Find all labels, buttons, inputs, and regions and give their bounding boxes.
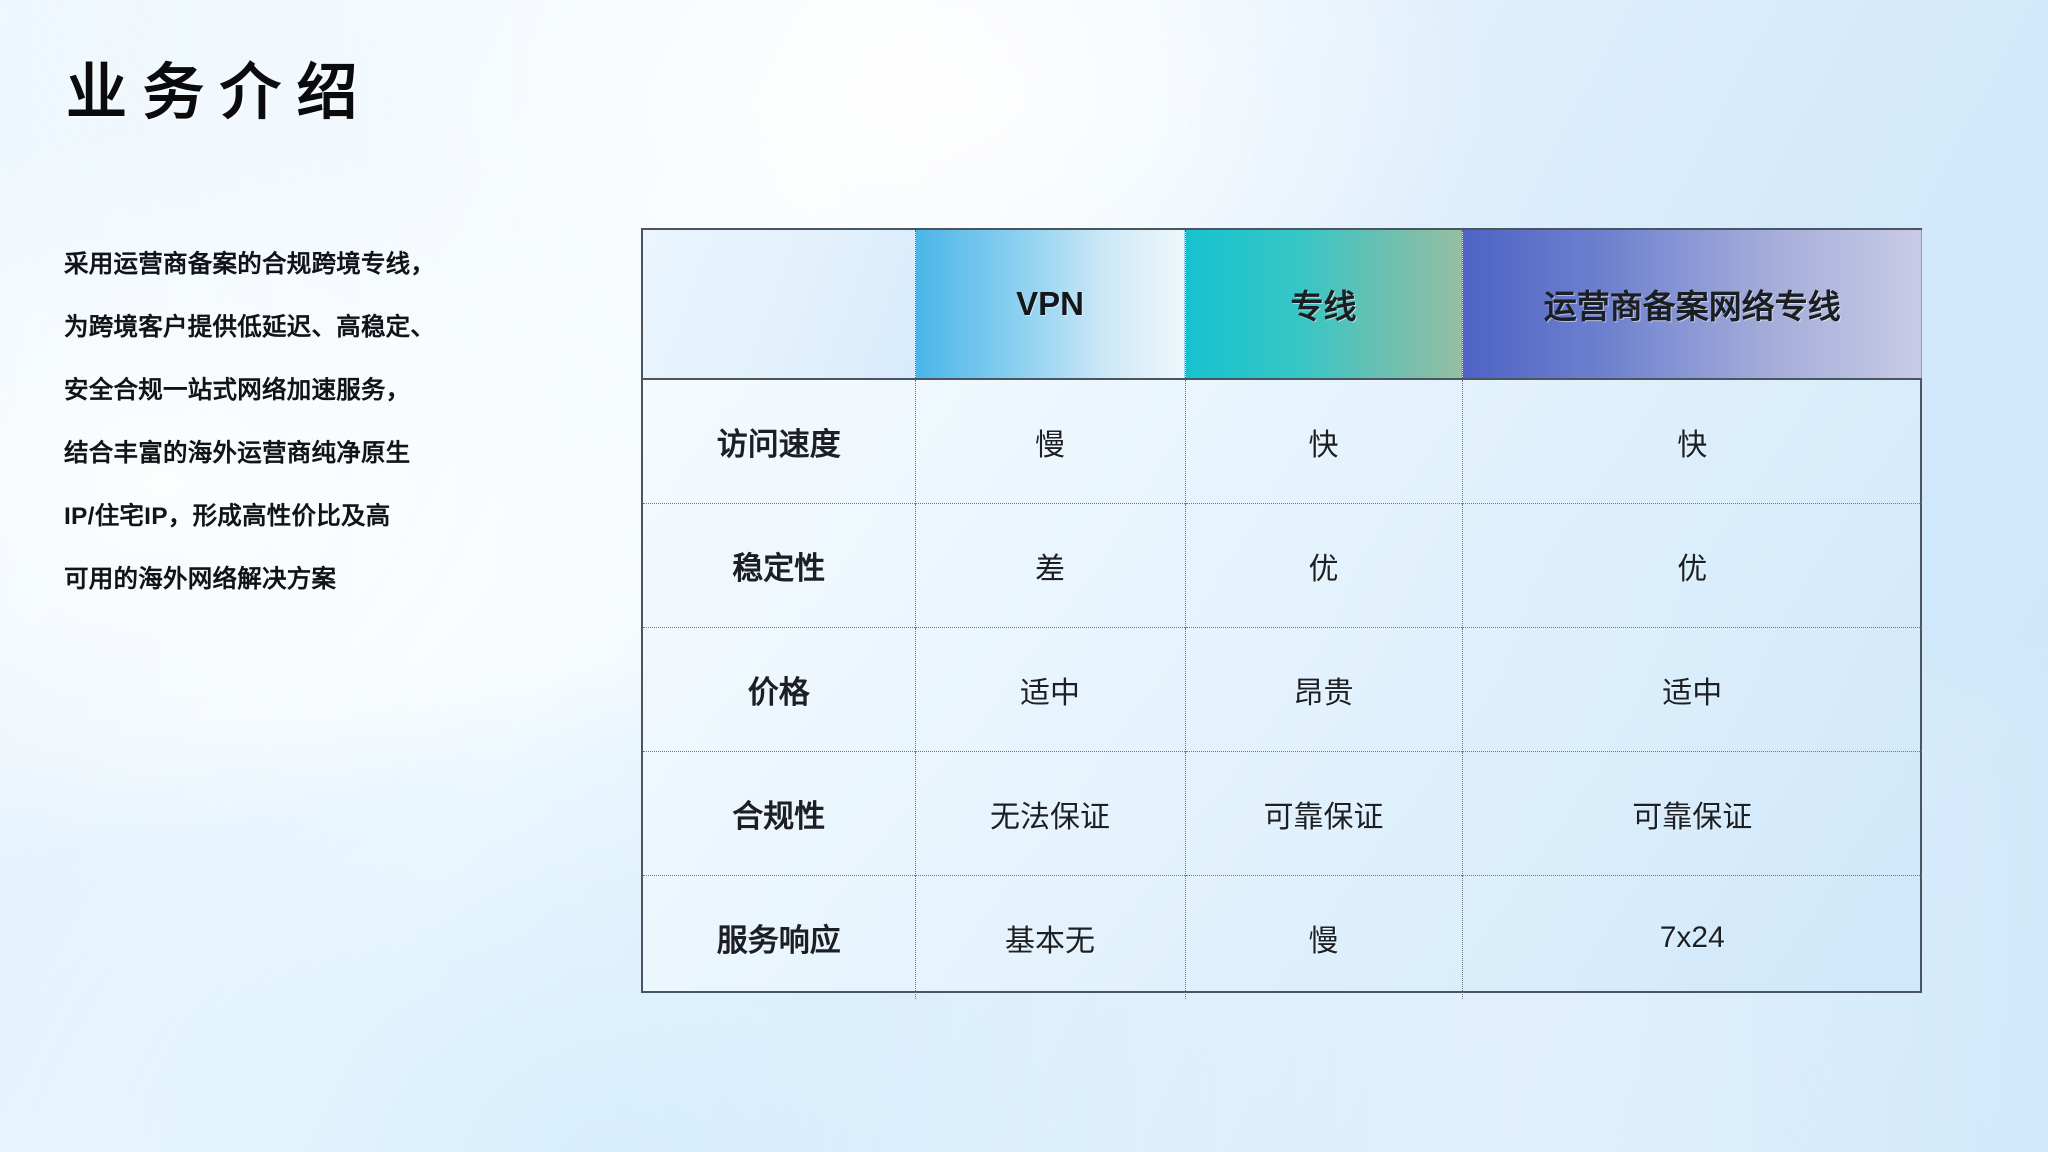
- table-row: 价格 适中 昂贵 适中: [643, 628, 1922, 752]
- header-cell-dedicated-line: 专线: [1185, 230, 1462, 379]
- header-cell-carrier-line: 运营商备案网络专线: [1462, 230, 1922, 379]
- intro-paragraph: 采用运营商备案的合规跨境专线， 为跨境客户提供低延迟、高稳定、 安全合规一站式网…: [64, 233, 624, 611]
- row-cell-dedicated: 可靠保证: [1185, 752, 1462, 876]
- table-row: 服务响应 基本无 慢 7x24: [643, 876, 1922, 1000]
- comparison-table-element: VPN 专线 运营商备案网络专线 访问速度 慢 快 快: [643, 230, 1922, 999]
- row-cell-dedicated: 快: [1185, 379, 1462, 504]
- row-label: 合规性: [643, 752, 915, 876]
- table-header-row: VPN 专线 运营商备案网络专线: [643, 230, 1922, 379]
- intro-line: 结合丰富的海外运营商纯净原生: [64, 422, 624, 485]
- row-cell-carrier: 7x24: [1462, 876, 1922, 1000]
- row-cell-vpn: 基本无: [915, 876, 1185, 1000]
- table-row: 合规性 无法保证 可靠保证 可靠保证: [643, 752, 1922, 876]
- row-cell-vpn: 差: [915, 504, 1185, 628]
- table-row: 稳定性 差 优 优: [643, 504, 1922, 628]
- row-cell-carrier: 快: [1462, 379, 1922, 504]
- table-row: 访问速度 慢 快 快: [643, 379, 1922, 504]
- table-header: VPN 专线 运营商备案网络专线: [643, 230, 1922, 379]
- row-cell-carrier: 适中: [1462, 628, 1922, 752]
- row-cell-vpn: 无法保证: [915, 752, 1185, 876]
- row-label: 访问速度: [643, 379, 915, 504]
- row-cell-vpn: 慢: [915, 379, 1185, 504]
- row-cell-carrier: 可靠保证: [1462, 752, 1922, 876]
- intro-line: IP/住宅IP，形成高性价比及高: [64, 485, 624, 548]
- header-label-vpn: VPN: [916, 230, 1185, 378]
- row-label: 服务响应: [643, 876, 915, 1000]
- row-label: 稳定性: [643, 504, 915, 628]
- intro-line: 为跨境客户提供低延迟、高稳定、: [64, 296, 624, 359]
- row-cell-dedicated: 优: [1185, 504, 1462, 628]
- page-title: 业务介绍: [66, 62, 373, 123]
- intro-line: 采用运营商备案的合规跨境专线，: [64, 233, 624, 296]
- header-cell-vpn: VPN: [915, 230, 1185, 379]
- header-label-carrier-line: 运营商备案网络专线: [1463, 230, 1923, 378]
- header-label-blank: [643, 230, 915, 378]
- intro-line: 安全合规一站式网络加速服务，: [64, 359, 624, 422]
- row-cell-carrier: 优: [1462, 504, 1922, 628]
- row-cell-dedicated: 昂贵: [1185, 628, 1462, 752]
- table-body: 访问速度 慢 快 快 稳定性 差 优 优 价格 适中 昂贵 适中: [643, 379, 1922, 999]
- row-cell-dedicated: 慢: [1185, 876, 1462, 1000]
- slide-background: 业务介绍 采用运营商备案的合规跨境专线， 为跨境客户提供低延迟、高稳定、 安全合…: [0, 0, 2048, 1152]
- header-label-dedicated-line: 专线: [1186, 230, 1462, 378]
- comparison-table: VPN 专线 运营商备案网络专线 访问速度 慢 快 快: [641, 228, 1922, 993]
- intro-line: 可用的海外网络解决方案: [64, 548, 624, 611]
- row-cell-vpn: 适中: [915, 628, 1185, 752]
- header-cell-blank: [643, 230, 915, 379]
- row-label: 价格: [643, 628, 915, 752]
